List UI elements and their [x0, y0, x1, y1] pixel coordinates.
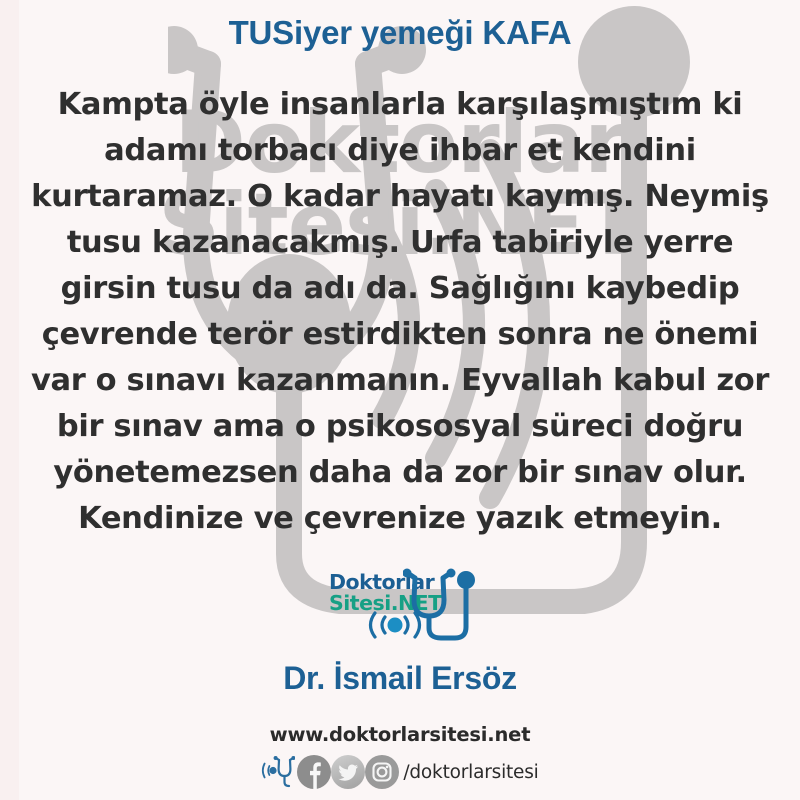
facebook-icon[interactable] — [297, 755, 331, 789]
sound-waves-icon — [363, 610, 427, 640]
post-body: Kampta öyle insanlarla karşılaşmıştım ki… — [22, 82, 778, 542]
author-name: Dr. İsmail Ersöz — [0, 660, 800, 697]
social-handle: /doktorlarsitesi — [403, 762, 538, 783]
social-post-card: Doktorlar Sitesi.NET TUSiyer yemeği KAFA… — [0, 0, 800, 800]
social-links-row: /doktorlarsitesi — [0, 755, 800, 789]
post-title: TUSiyer yemeği KAFA — [0, 14, 800, 52]
instagram-icon[interactable] — [365, 755, 399, 789]
content-layer: TUSiyer yemeği KAFA Kampta öyle insanlar… — [0, 0, 800, 800]
twitter-icon[interactable] — [331, 755, 365, 789]
brand-logo: Doktorlar Sitesi.NET — [0, 566, 800, 642]
stethoscope-icon — [261, 755, 295, 789]
brand-logo-inner: Doktorlar Sitesi.NET — [325, 566, 475, 642]
website-url[interactable]: www.doktorlarsitesi.net — [0, 723, 800, 746]
